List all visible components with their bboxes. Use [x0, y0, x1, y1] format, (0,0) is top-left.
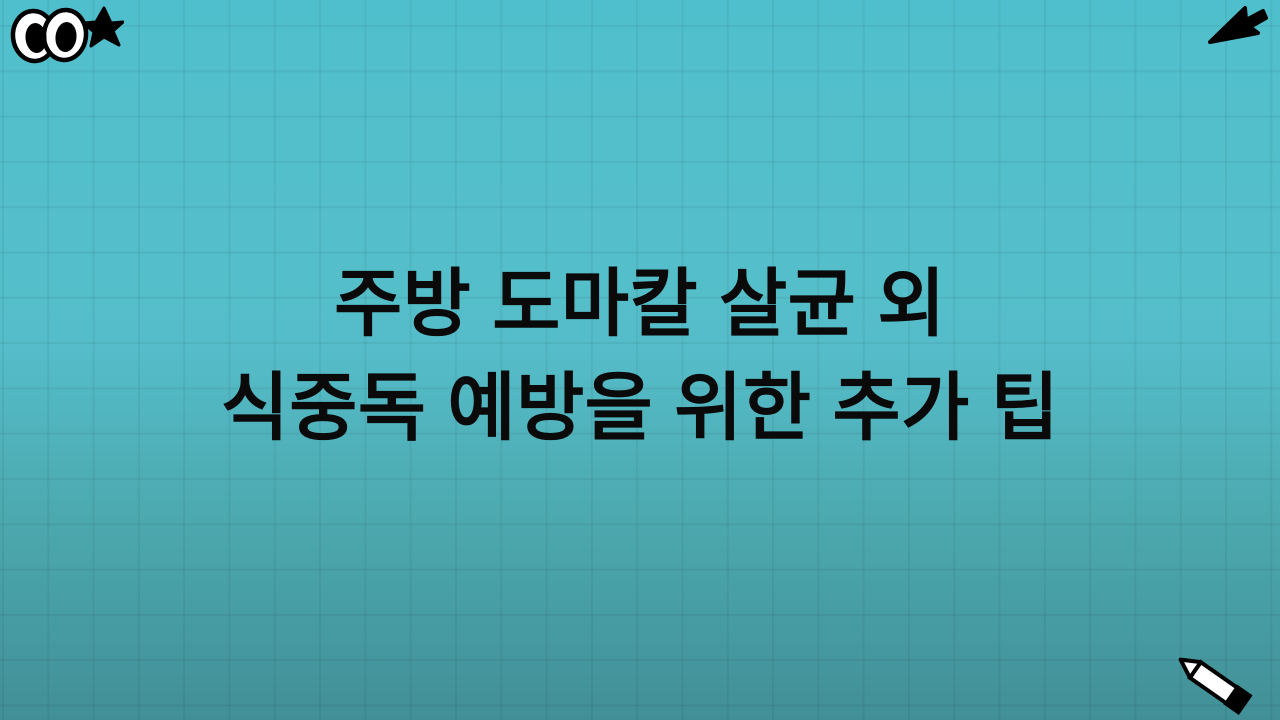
slide-canvas: 주방 도마칼 살균 외 식중독 예방을 위한 추가 팁 — [0, 0, 1280, 720]
slide-title: 주방 도마칼 살균 외 식중독 예방을 위한 추가 팁 — [0, 252, 1280, 460]
title-line-2: 식중독 예방을 위한 추가 팁 — [0, 356, 1280, 460]
title-line-1: 주방 도마칼 살균 외 — [0, 252, 1280, 356]
